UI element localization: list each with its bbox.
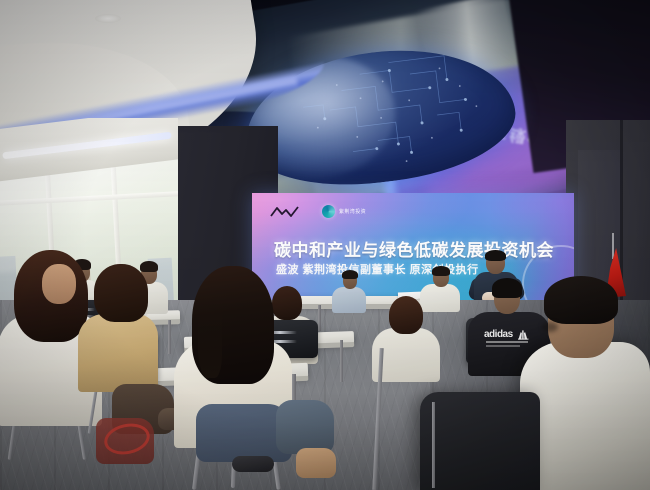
attendee-torso: [78, 314, 158, 392]
adidas-wordmark: adidas: [484, 330, 513, 340]
attendee-hair: [432, 266, 450, 276]
ceiling-downlight-icon: [95, 14, 121, 23]
flag-pole: [612, 233, 614, 259]
speaker-hair: [485, 250, 506, 261]
attendee-ear-shadow: [542, 322, 558, 332]
attendee-hair: [389, 296, 423, 334]
company-logo-text: 紫荆湾投资: [339, 208, 366, 215]
circle-logo-icon: [322, 205, 335, 218]
attendee-left-khaki-woman: [78, 270, 160, 388]
attendee-back-man-blue-shirt: [332, 272, 366, 310]
mountain-logo-icon: [270, 205, 300, 218]
screen-logo-row: 紫荆湾投资: [270, 205, 366, 218]
attendee-hair-strand: [198, 300, 222, 378]
table-leg: [318, 305, 321, 331]
attendee-shorts: [276, 400, 334, 454]
attendee-torso: [332, 287, 366, 313]
company-logo: 紫荆湾投资: [322, 205, 366, 218]
attendee-hair: [544, 276, 618, 324]
attendee-leg: [296, 448, 336, 478]
attendee-face: [42, 264, 76, 304]
attendee-hair: [342, 270, 358, 279]
attendee-sandal: [232, 456, 274, 472]
adidas-subtext-2: [486, 345, 520, 347]
conference-room-photo: 投资机会 碳中和产业与绿色: [0, 0, 650, 490]
attendee-hair: [492, 278, 522, 298]
attendee-hair: [94, 264, 148, 322]
table-leg: [340, 340, 343, 382]
window-transom: [0, 191, 178, 206]
chair-leg: [432, 402, 435, 488]
chair-foreground-right: [420, 392, 540, 490]
